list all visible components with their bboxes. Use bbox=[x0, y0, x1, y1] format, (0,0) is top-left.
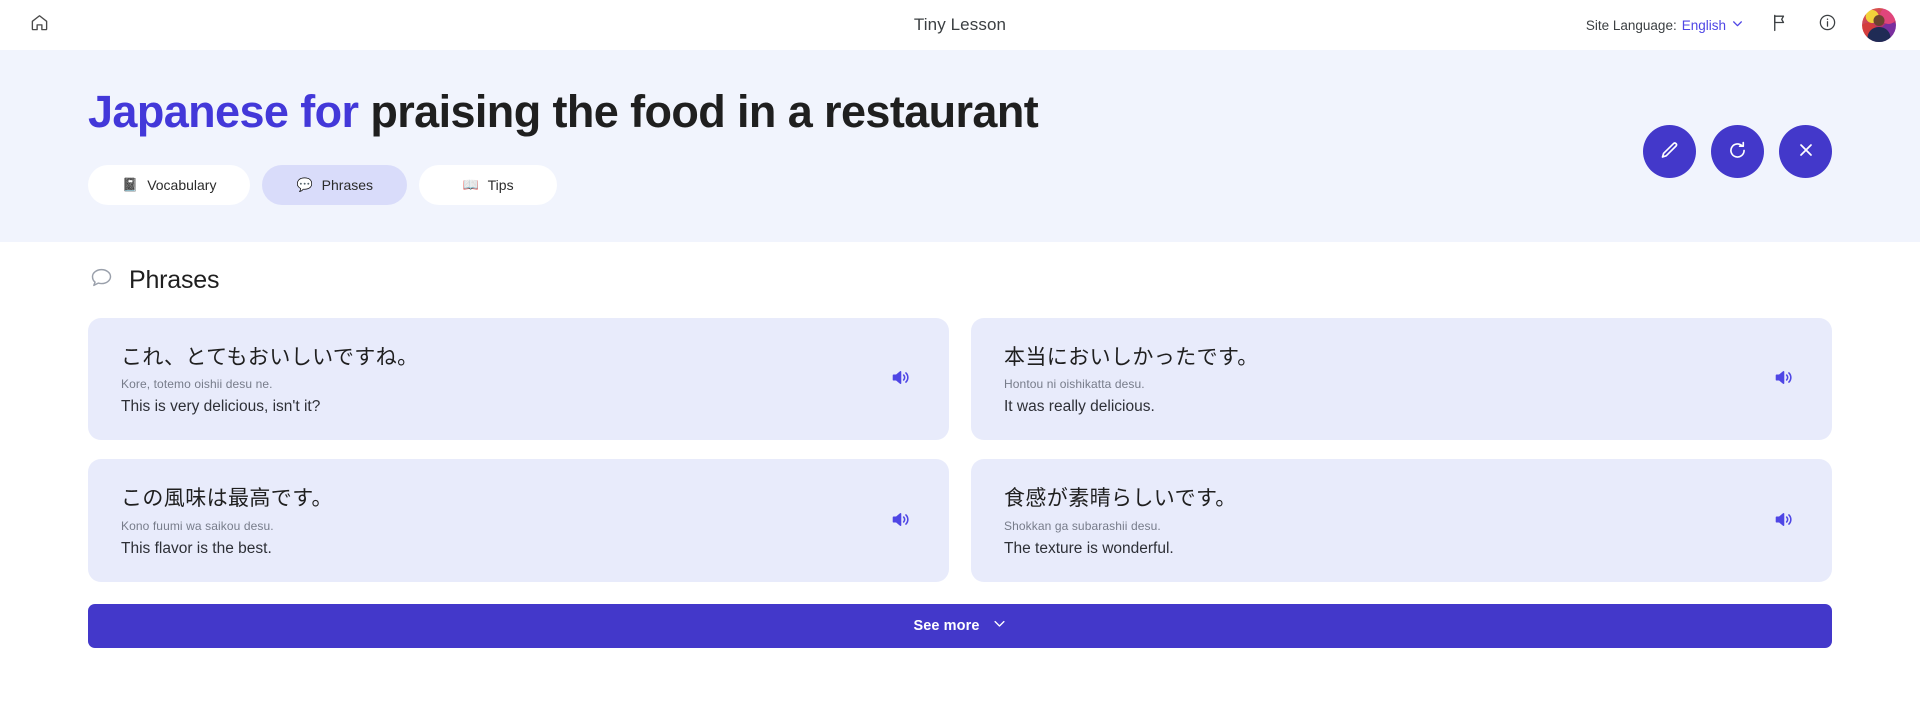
play-audio-button[interactable] bbox=[1766, 505, 1800, 539]
phrase-grid: これ、とてもおいしいですね。 Kore, totemo oishii desu … bbox=[88, 318, 1832, 582]
speech-bubble-icon: 💬 bbox=[296, 178, 312, 191]
phrase-translation: This flavor is the best. bbox=[121, 540, 883, 558]
open-book-icon: 📖 bbox=[462, 178, 478, 191]
phrase-japanese: これ、とてもおいしいですね。 bbox=[121, 344, 883, 372]
phrase-card-text: この風味は最高です。 Kono fuumi wa saikou desu. Th… bbox=[121, 485, 883, 557]
pencil-icon bbox=[1659, 140, 1680, 164]
info-button[interactable] bbox=[1814, 12, 1840, 38]
report-flag-button[interactable] bbox=[1766, 12, 1792, 38]
site-language-label: Site Language: bbox=[1586, 18, 1677, 33]
avatar-face bbox=[1874, 15, 1885, 26]
flag-icon bbox=[1770, 13, 1789, 37]
section-header: Phrases bbox=[88, 258, 1832, 302]
chevron-down-icon bbox=[992, 616, 1007, 635]
tab-vocabulary[interactable]: 📓 Vocabulary bbox=[88, 165, 250, 205]
phrase-translation: It was really delicious. bbox=[1004, 398, 1766, 416]
chevron-down-icon bbox=[1731, 17, 1744, 33]
regenerate-button[interactable] bbox=[1711, 125, 1764, 178]
tab-vocabulary-label: Vocabulary bbox=[147, 177, 216, 193]
play-audio-button[interactable] bbox=[1766, 363, 1800, 397]
phrase-card[interactable]: 本当においしかったです。 Hontou ni oishikatta desu. … bbox=[971, 318, 1832, 440]
phrase-japanese: 食感が素晴らしいです。 bbox=[1004, 485, 1766, 513]
lesson-tabs: 📓 Vocabulary 💬 Phrases 📖 Tips bbox=[88, 165, 1832, 205]
see-more-label: See more bbox=[913, 618, 979, 634]
phrase-card[interactable]: 食感が素晴らしいです。 Shokkan ga subarashii desu. … bbox=[971, 459, 1832, 581]
phrase-card[interactable]: この風味は最高です。 Kono fuumi wa saikou desu. Th… bbox=[88, 459, 949, 581]
phrase-card[interactable]: これ、とてもおいしいですね。 Kore, totemo oishii desu … bbox=[88, 318, 949, 440]
close-icon bbox=[1796, 140, 1816, 163]
see-more-button[interactable]: See more bbox=[88, 604, 1832, 648]
avatar[interactable] bbox=[1862, 8, 1896, 42]
tab-tips-label: Tips bbox=[488, 177, 514, 193]
page-title-accent: Japanese for bbox=[88, 86, 358, 137]
phrase-japanese: 本当においしかったです。 bbox=[1004, 344, 1766, 372]
phrase-japanese: この風味は最高です。 bbox=[121, 485, 883, 513]
phrase-card-text: これ、とてもおいしいですね。 Kore, totemo oishii desu … bbox=[121, 344, 883, 416]
close-button[interactable] bbox=[1779, 125, 1832, 178]
site-language-value: English bbox=[1682, 18, 1726, 33]
section-title: Phrases bbox=[129, 266, 219, 295]
top-bar-right-group: Site Language: English bbox=[1586, 8, 1896, 42]
avatar-body bbox=[1868, 27, 1891, 42]
phrase-card-text: 本当においしかったです。 Hontou ni oishikatta desu. … bbox=[1004, 344, 1766, 416]
play-audio-button[interactable] bbox=[883, 363, 917, 397]
lesson-action-buttons bbox=[1643, 125, 1832, 178]
phrase-card-text: 食感が素晴らしいです。 Shokkan ga subarashii desu. … bbox=[1004, 485, 1766, 557]
page-title: Japanese for praising the food in a rest… bbox=[88, 88, 1832, 137]
speaker-icon bbox=[1773, 509, 1794, 535]
tab-phrases-label: Phrases bbox=[322, 177, 373, 193]
home-button[interactable] bbox=[24, 10, 54, 40]
phrase-translation: This is very delicious, isn't it? bbox=[121, 398, 883, 416]
lesson-header-band: Japanese for praising the food in a rest… bbox=[0, 50, 1920, 242]
speech-bubble-icon bbox=[88, 264, 115, 296]
phrase-romaji: Kono fuumi wa saikou desu. bbox=[121, 519, 883, 533]
top-bar: Tiny Lesson Site Language: English bbox=[0, 0, 1920, 50]
page-title-rest: praising the food in a restaurant bbox=[370, 86, 1038, 137]
play-audio-button[interactable] bbox=[883, 505, 917, 539]
phrase-translation: The texture is wonderful. bbox=[1004, 540, 1766, 558]
refresh-icon bbox=[1727, 140, 1748, 164]
edit-button[interactable] bbox=[1643, 125, 1696, 178]
tab-tips[interactable]: 📖 Tips bbox=[419, 165, 557, 205]
speaker-icon bbox=[890, 509, 911, 535]
phrase-romaji: Shokkan ga subarashii desu. bbox=[1004, 519, 1766, 533]
phrase-romaji: Kore, totemo oishii desu ne. bbox=[121, 377, 883, 391]
speaker-icon bbox=[890, 367, 911, 393]
info-icon bbox=[1818, 13, 1837, 37]
phrase-romaji: Hontou ni oishikatta desu. bbox=[1004, 377, 1766, 391]
tab-phrases[interactable]: 💬 Phrases bbox=[262, 165, 407, 205]
main-content: Phrases これ、とてもおいしいですね。 Kore, totemo oish… bbox=[0, 258, 1920, 648]
site-language-selector[interactable]: Site Language: English bbox=[1586, 17, 1744, 33]
home-icon bbox=[30, 13, 49, 37]
speaker-icon bbox=[1773, 367, 1794, 393]
notebook-icon: 📓 bbox=[122, 178, 138, 191]
